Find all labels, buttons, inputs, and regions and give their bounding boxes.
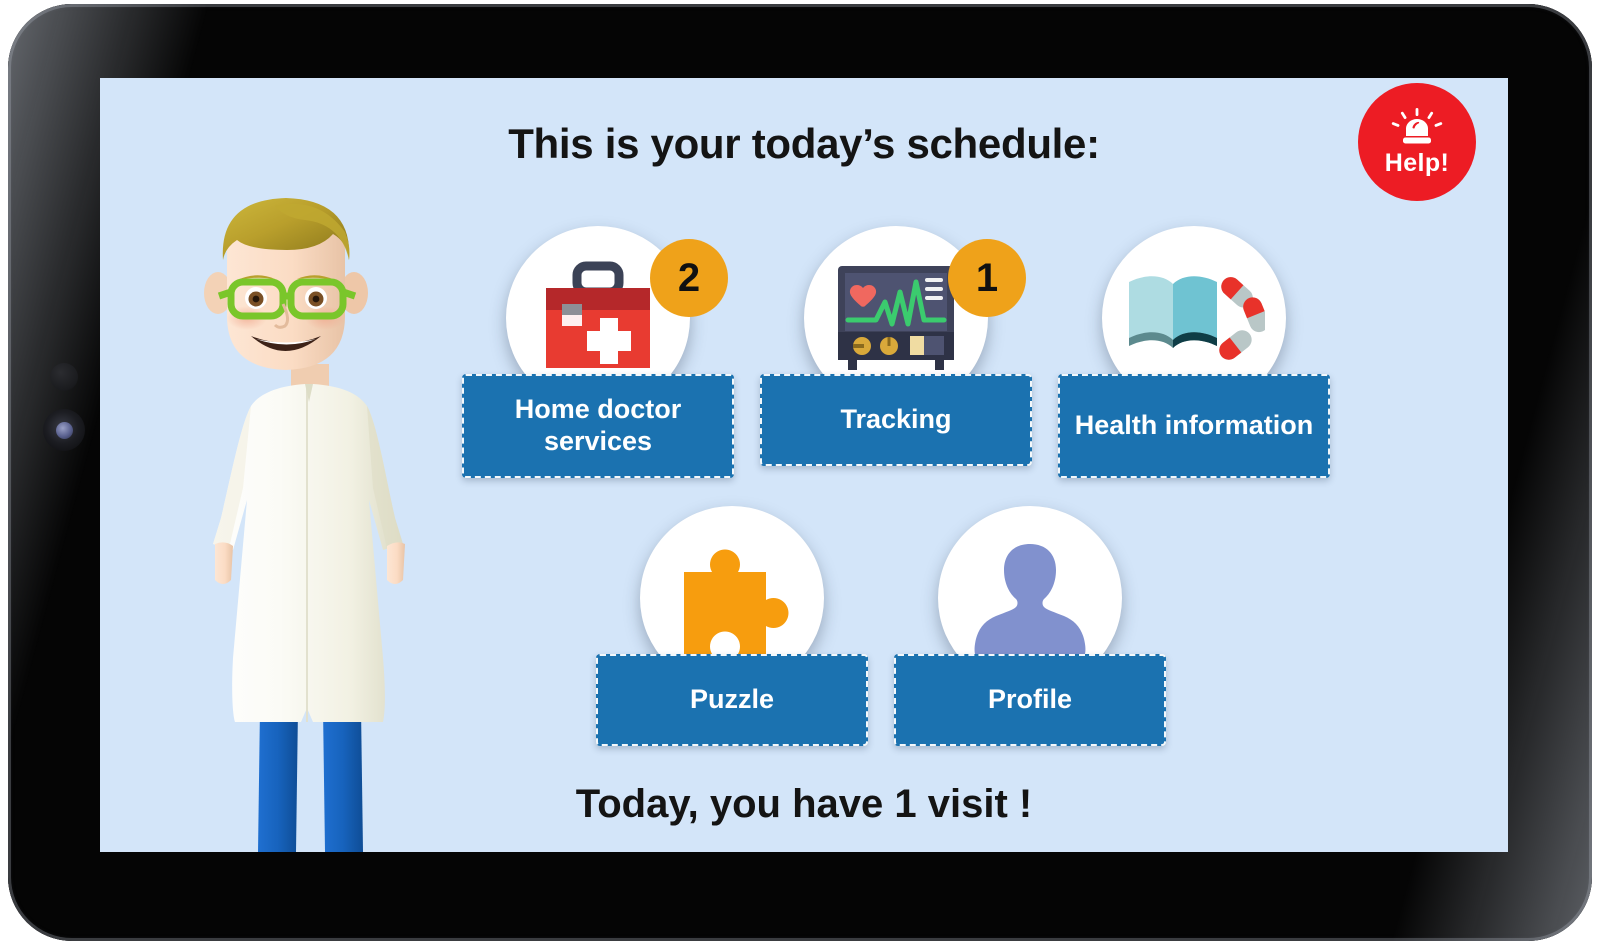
proximity-sensor-icon <box>50 363 78 391</box>
doctor-character-avatar <box>155 188 465 852</box>
front-camera-icon <box>43 409 85 451</box>
tile-label-health-information[interactable]: Health information <box>1058 374 1330 478</box>
tile-badge: 2 <box>650 239 728 317</box>
heart-monitor-icon <box>830 262 962 374</box>
tile-badge: 1 <box>948 239 1026 317</box>
tile-label-home-doctor-services[interactable]: Home doctor services <box>462 374 734 478</box>
puzzle-piece-icon <box>670 536 794 660</box>
medical-bag-icon <box>532 260 664 376</box>
tile-label-puzzle[interactable]: Puzzle <box>596 654 868 746</box>
visits-summary-text: Today, you have 1 visit ! <box>100 782 1508 827</box>
page-title: This is your today’s schedule: <box>100 120 1508 168</box>
alarm-siren-icon <box>1391 108 1443 150</box>
tablet-screen: This is your today’s schedule: Help! <box>100 78 1508 852</box>
help-button-label: Help! <box>1385 151 1450 176</box>
person-avatar-icon <box>971 540 1089 656</box>
book-pills-icon <box>1123 266 1265 370</box>
tile-label-tracking[interactable]: Tracking <box>760 374 1032 466</box>
tile-label-profile[interactable]: Profile <box>894 654 1166 746</box>
help-button[interactable]: Help! <box>1358 83 1476 201</box>
tablet-device: This is your today’s schedule: Help! <box>8 4 1592 941</box>
